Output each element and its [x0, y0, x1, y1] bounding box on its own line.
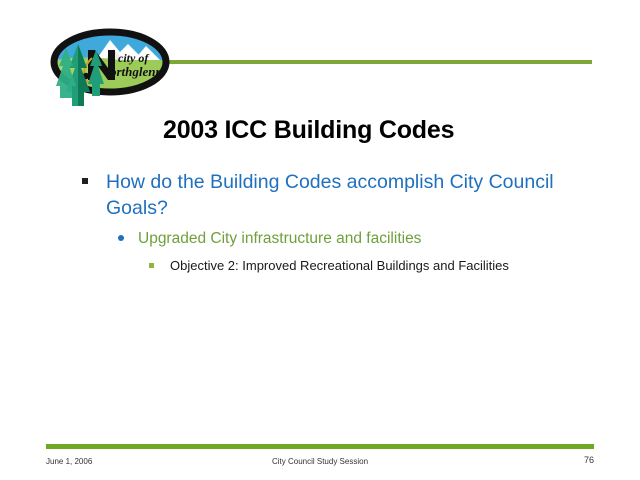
slide: city of orthglenn 2003 ICC Building Code…: [0, 0, 640, 480]
bullet-level-1: How do the Building Codes accomplish Cit…: [60, 170, 610, 221]
bullet-level-3: Objective 2: Improved Recreational Build…: [60, 258, 610, 275]
footer-center-text: City Council Study Session: [46, 457, 594, 466]
slide-body: How do the Building Codes accomplish Cit…: [60, 170, 610, 275]
city-of-northglenn-logo: city of orthglenn: [48, 18, 176, 118]
logo-text-line2: orthglenn: [110, 64, 163, 79]
slide-number: 76: [584, 455, 594, 465]
bullet-level-3-text: Objective 2: Improved Recreational Build…: [170, 258, 509, 273]
page-title: 2003 ICC Building Codes: [163, 117, 603, 145]
slide-footer: June 1, 2006 City Council Study Session …: [46, 457, 594, 471]
round-bullet-icon: [118, 235, 124, 241]
bullet-level-2: Upgraded City infrastructure and facilit…: [60, 229, 610, 249]
small-square-bullet-icon: [149, 263, 154, 268]
logo-text-line1: city of: [118, 51, 149, 65]
bullet-level-2-text: Upgraded City infrastructure and facilit…: [138, 230, 421, 247]
square-bullet-icon: [82, 178, 88, 184]
bullet-level-1-text: How do the Building Codes accomplish Cit…: [106, 171, 554, 219]
footer-divider: [46, 444, 594, 449]
